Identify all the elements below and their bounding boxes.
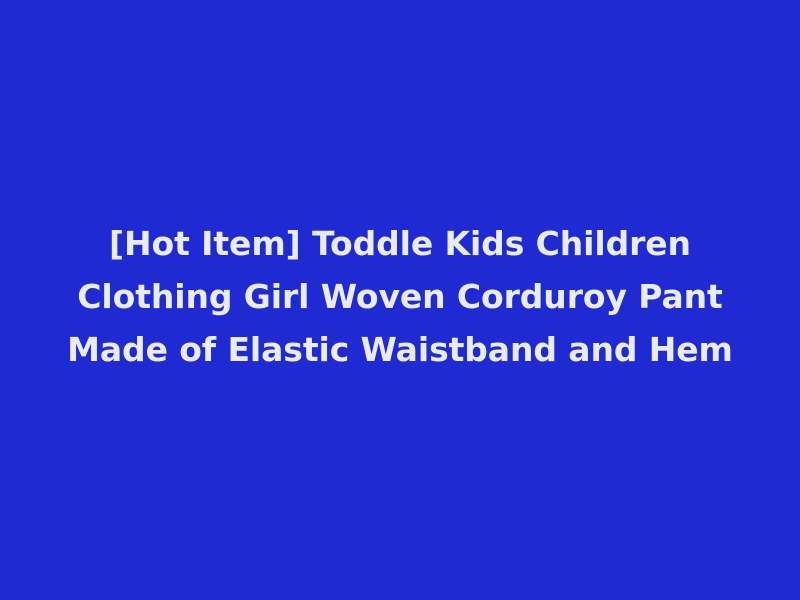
product-title-line-3: Made of Elastic Waistband and Hem: [50, 323, 750, 376]
product-title-line-1: [Hot Item] Toddle Kids Children: [50, 217, 750, 270]
product-title-line-2: Clothing Girl Woven Corduroy Pant: [50, 270, 750, 323]
product-title: [Hot Item] Toddle Kids Children Clothing…: [50, 217, 750, 376]
product-title-card: [Hot Item] Toddle Kids Children Clothing…: [0, 0, 800, 600]
